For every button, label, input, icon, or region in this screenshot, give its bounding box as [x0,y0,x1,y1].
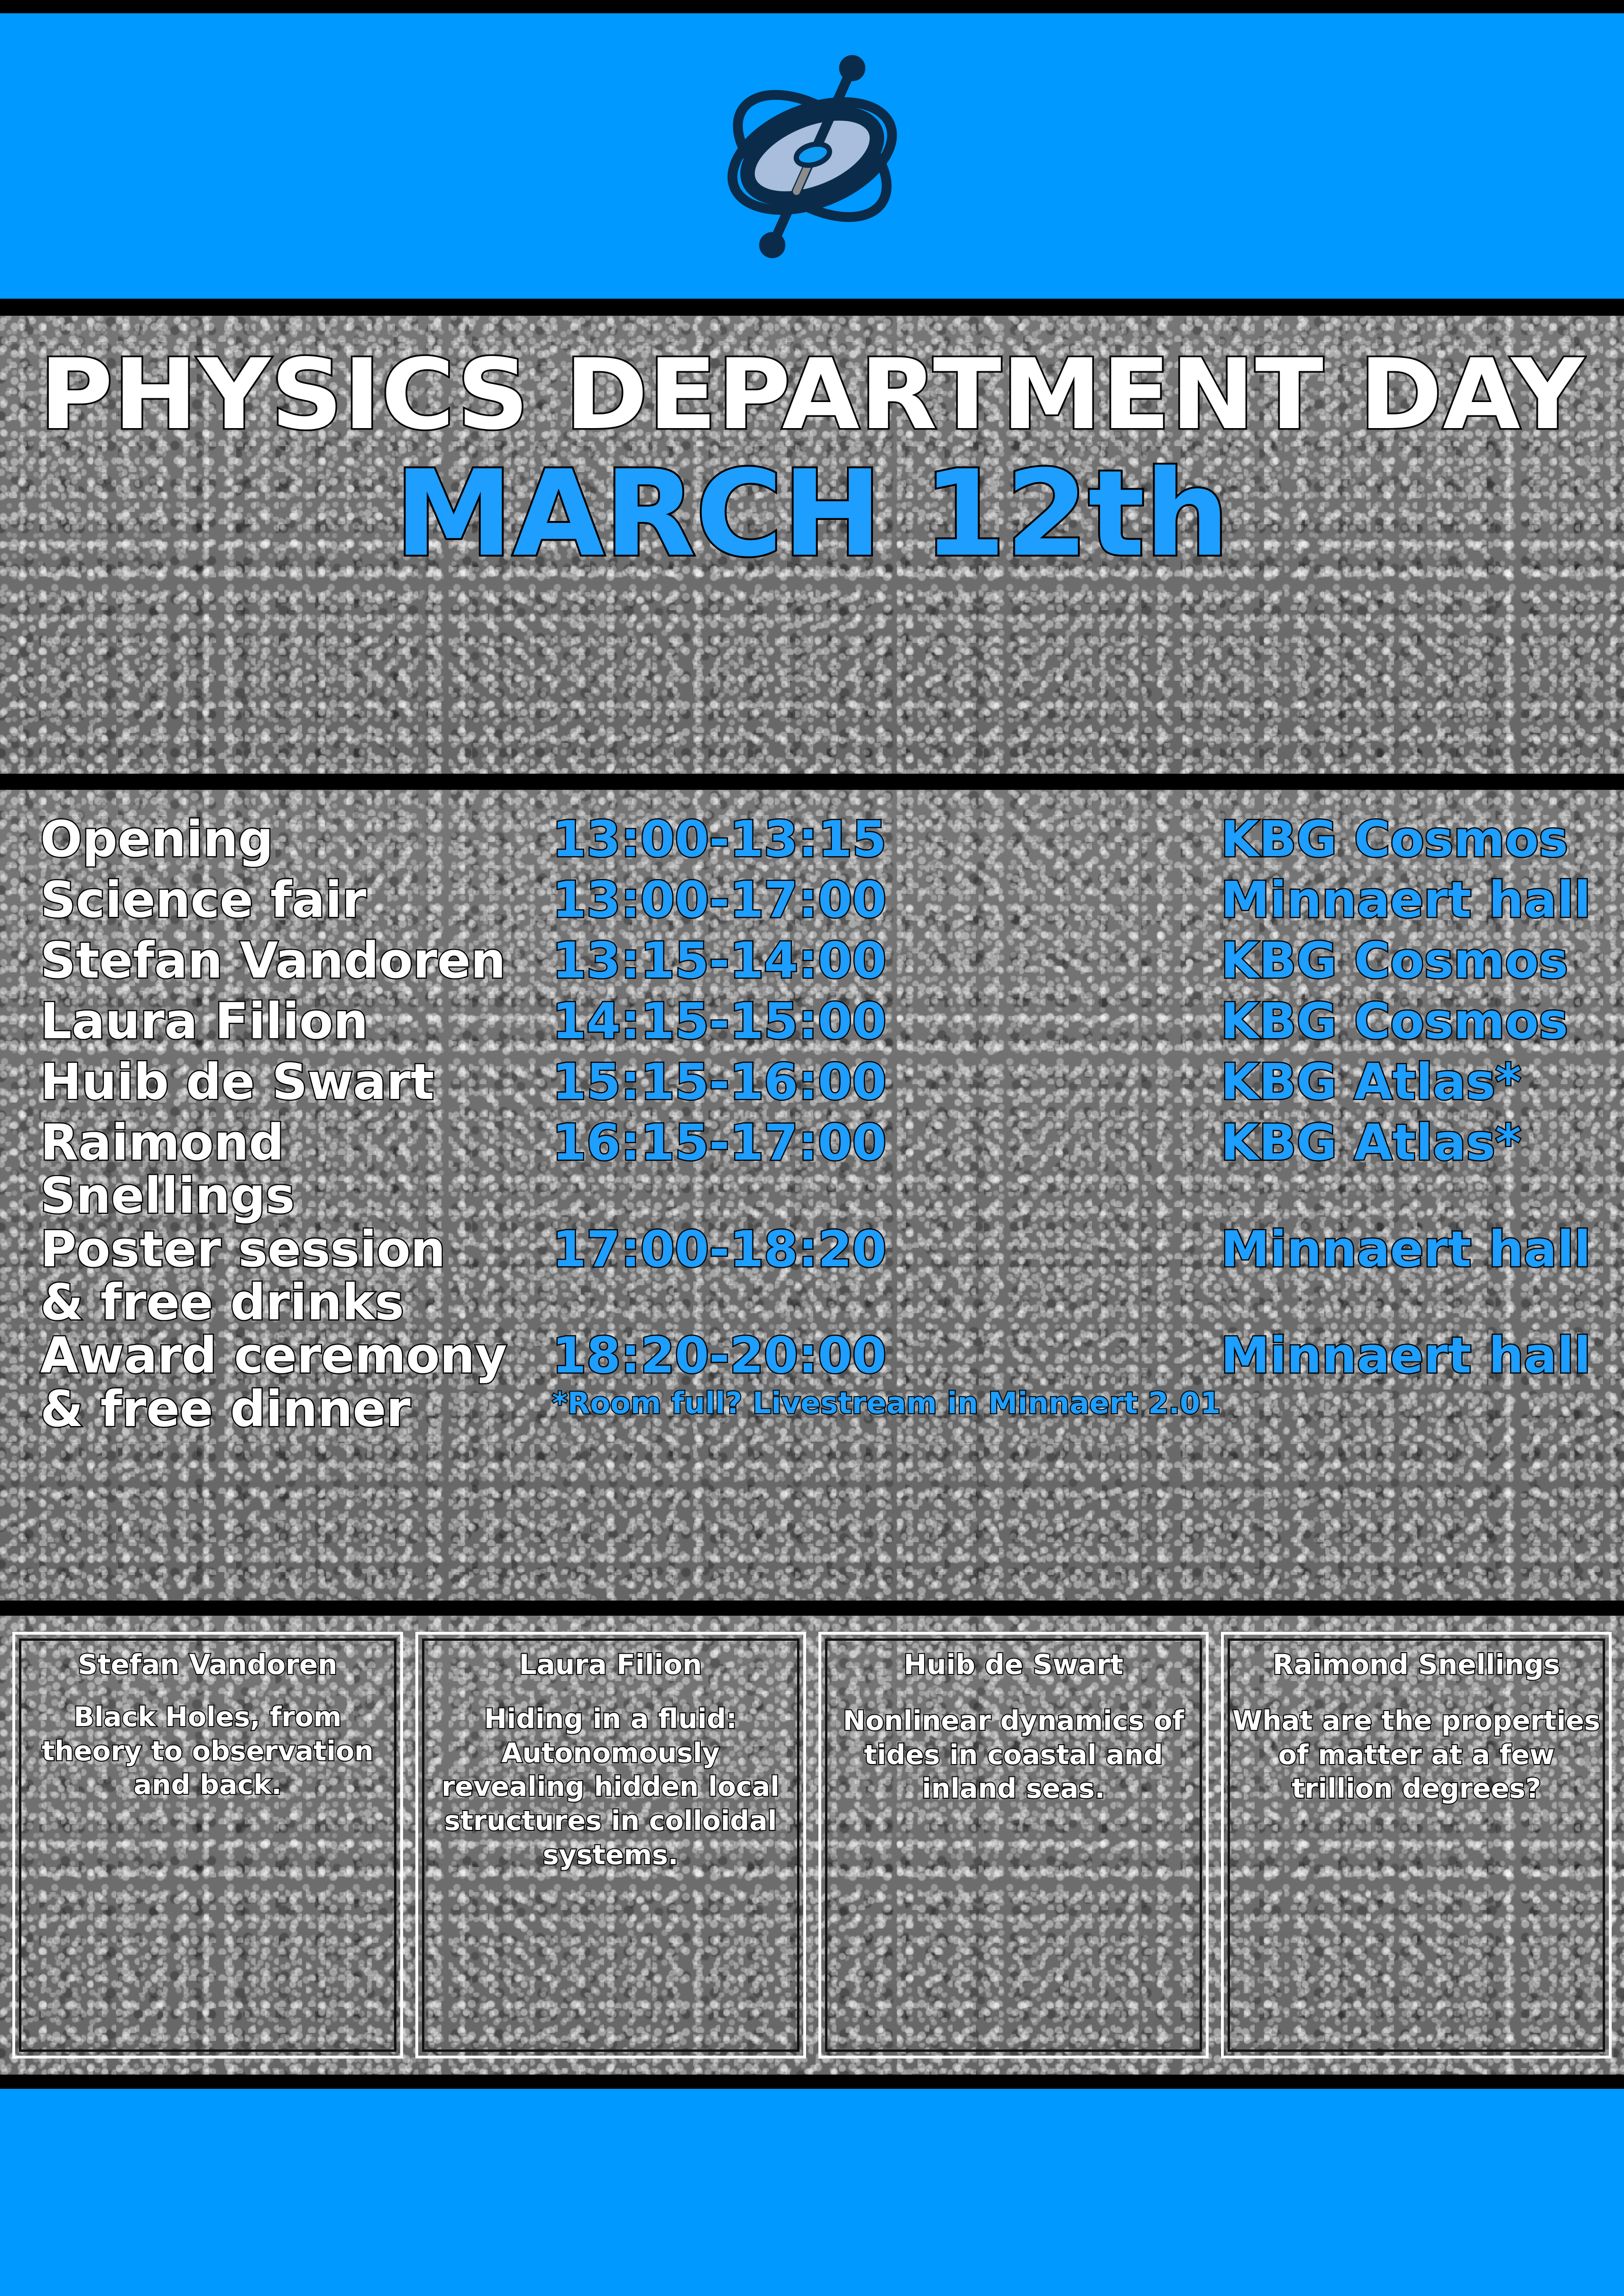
schedule-location: KBG Atlas* [1220,1116,1591,1169]
schedule-location: KBG Cosmos [1220,995,1591,1048]
schedule-body: Opening 13:00-13:15 KBG Cosmos Science f… [40,813,1591,1436]
livestream-footnote: *Room full? Livestream in Minnaert 2.01 [552,1387,1220,1419]
schedule-location: Minnaert hall [1220,873,1591,926]
schedule-section: Opening 13:00-13:15 KBG Cosmos Science f… [0,790,1624,1601]
schedule-event: Stefan Vandoren [40,934,552,987]
divider-below-title [0,774,1624,790]
table-row: Stefan Vandoren 13:15-14:00 KBG Cosmos [40,934,1591,995]
schedule-time: 17:00-18:20 [552,1223,1220,1276]
table-row: Raimond Snellings 16:15-17:00 KBG Atlas* [40,1116,1591,1223]
schedule-location: KBG Atlas* [1220,1055,1591,1108]
speaker-card-stefan-vandoren: Stefan Vandoren Black Holes, from theory… [12,1632,403,2058]
top-black-border [0,0,1624,13]
divider-below-header [0,299,1624,316]
speaker-name: Laura Filion [519,1649,702,1681]
schedule-event: Poster session & free drinks [40,1223,552,1329]
schedule-time: 16:15-17:00 [552,1116,1220,1169]
schedule-time: 13:00-17:00 [552,873,1220,926]
schedule-location: Minnaert hall [1220,1223,1591,1276]
speaker-name: Raimond Snellings [1273,1649,1560,1681]
schedule-time: 18:20-20:00 [552,1329,1220,1382]
speaker-topic: Hiding in a fluid: Autonomously revealin… [427,1702,795,1873]
schedule-location: KBG Cosmos [1220,934,1591,987]
schedule-time: 13:15-14:00 [552,934,1220,987]
speaker-name: Huib de Swart [904,1649,1123,1681]
gyroscope-atom-icon [713,45,912,267]
speaker-topic: Nonlinear dynamics of tides in coastal a… [830,1704,1198,1806]
table-row: Laura Filion 14:15-15:00 KBG Cosmos [40,995,1591,1055]
schedule-event: Raimond Snellings [40,1116,552,1223]
speaker-name: Stefan Vandoren [78,1649,337,1681]
header-blue-band [0,13,1624,299]
schedule-event: Laura Filion [40,995,552,1048]
divider-below-schedule [0,1601,1624,1616]
table-row: Huib de Swart 15:15-16:00 KBG Atlas* [40,1055,1591,1116]
speaker-cards-section: Stefan Vandoren Black Holes, from theory… [0,1616,1624,2075]
schedule-event: Award ceremony & free dinner [40,1329,552,1436]
table-row: Science fair 13:00-17:00 Minnaert hall [40,873,1591,934]
schedule-time: 15:15-16:00 [552,1055,1220,1108]
schedule-event: Science fair [40,873,552,926]
table-row: Award ceremony & free dinner 18:20-20:00… [40,1329,1591,1436]
schedule-location: Minnaert hall [1220,1329,1591,1382]
speaker-card-huib-de-swart: Huib de Swart Nonlinear dynamics of tide… [818,1632,1209,2058]
page-title: PHYSICS DEPARTMENT DAY [40,344,1585,446]
footer-blue-band [0,2089,1624,2296]
schedule-location: KBG Cosmos [1220,813,1591,866]
speaker-topic: Black Holes, from theory to observation … [24,1701,392,1802]
speaker-card-laura-filion: Laura Filion Hiding in a fluid: Autonomo… [415,1632,806,2058]
event-date: MARCH 12th [395,455,1229,573]
title-section: PHYSICS DEPARTMENT DAY MARCH 12th [0,316,1624,774]
speaker-card-raimond-snellings: Raimond Snellings What are the propertie… [1221,1632,1612,2058]
divider-below-cards [0,2075,1624,2089]
schedule-time: 13:00-13:15 [552,813,1220,866]
schedule-event: Opening [40,813,552,866]
schedule-table: Opening 13:00-13:15 KBG Cosmos Science f… [40,813,1591,1436]
schedule-time: 14:15-15:00 [552,995,1220,1048]
speaker-topic: What are the properties of matter at a f… [1232,1704,1600,1806]
table-row: Opening 13:00-13:15 KBG Cosmos [40,813,1591,873]
schedule-event: Huib de Swart [40,1055,552,1108]
table-row: Poster session & free drinks 17:00-18:20… [40,1223,1591,1329]
poster-root: PHYSICS DEPARTMENT DAY MARCH 12th Openin… [0,0,1624,2296]
